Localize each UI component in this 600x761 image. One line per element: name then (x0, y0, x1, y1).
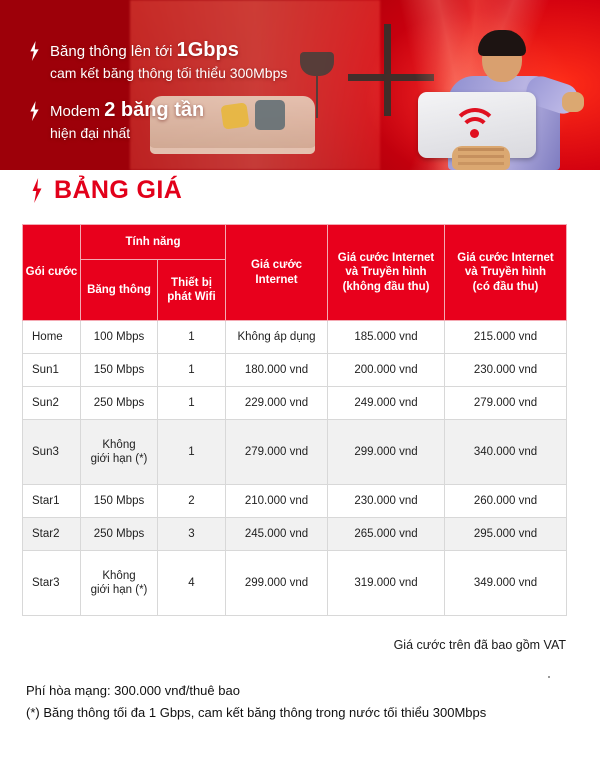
image-speck (548, 676, 550, 678)
cell-internet-price: 279.000 vnd (226, 420, 328, 485)
cell-bandwidth-line1: Không (102, 439, 135, 451)
banner-bullet-1-line2: cam kết băng thông tối thiểu 300Mbps (50, 65, 287, 81)
table-row[interactable]: Star2250 Mbps3245.000 vnd265.000 vnd295.… (23, 518, 567, 551)
table-row[interactable]: Sun1150 Mbps1180.000 vnd200.000 vnd230.0… (23, 354, 567, 387)
cell-tv-with-receiver: 340.000 vnd (445, 420, 567, 485)
cell-wifi-device: 1 (158, 387, 226, 420)
header-tv-no-receiver-line2: và Truyền hình (345, 266, 426, 278)
cell-bandwidth-line1: 250 Mbps (94, 397, 145, 409)
price-table-body: Home100 Mbps1Không áp dụng185.000 vnd215… (23, 321, 567, 616)
header-tv-with-receiver-line3: (có đầu thu) (473, 281, 539, 293)
cell-bandwidth: 250 Mbps (81, 387, 158, 420)
person-pointing-hand (562, 92, 584, 112)
cell-bandwidth-line1: Không (102, 570, 135, 582)
table-row[interactable]: Star3Khônggiới hạn (*)4299.000 vnd319.00… (23, 551, 567, 616)
cell-package: Star2 (23, 518, 81, 551)
person-fingers (452, 146, 510, 170)
cell-wifi-device: 2 (158, 485, 226, 518)
cell-package: Star3 (23, 551, 81, 616)
banner-bullet-2-line2: hiện đại nhất (50, 125, 130, 141)
footer-notes: Phí hòa mạng: 300.000 vnđ/thuê bao (*) B… (26, 680, 486, 725)
price-table-header: Gói cước Tính năng Giá cước Internet Giá… (23, 225, 567, 321)
cell-tv-no-receiver: 230.000 vnd (328, 485, 445, 518)
person-hair (478, 30, 526, 56)
header-tv-no-receiver-line1: Giá cước Internet (338, 252, 434, 264)
cell-package: Star1 (23, 485, 81, 518)
cell-bandwidth: 250 Mbps (81, 518, 158, 551)
cell-wifi-device: 1 (158, 354, 226, 387)
header-tv-with-receiver: Giá cước Internet và Truyền hình (có đầu… (445, 225, 567, 321)
cell-internet-price: 180.000 vnd (226, 354, 328, 387)
banner-bullet-1-line1: Băng thông lên tới 1Gbps (50, 43, 239, 60)
header-tv-no-receiver-line3: (không đầu thu) (343, 281, 430, 293)
banner-bullet-2-prefix: Modem (50, 103, 104, 120)
banner-bullet-2-highlight: 2 băng tần (104, 99, 204, 121)
table-row[interactable]: Sun3Khônggiới hạn (*)1279.000 vnd299.000… (23, 420, 567, 485)
cell-bandwidth-line2: giới hạn (*) (91, 453, 148, 465)
cell-internet-price: 299.000 vnd (226, 551, 328, 616)
cell-package: Sun1 (23, 354, 81, 387)
header-tv-no-receiver: Giá cước Internet và Truyền hình (không … (328, 225, 445, 321)
person-photo (430, 18, 580, 170)
cell-package: Home (23, 321, 81, 354)
wifi-icon (452, 104, 498, 138)
header-tv-with-receiver-line1: Giá cước Internet (457, 252, 553, 264)
cell-package: Sun3 (23, 420, 81, 485)
table-row[interactable]: Star1150 Mbps2210.000 vnd230.000 vnd260.… (23, 485, 567, 518)
lightning-bolt-icon (30, 178, 44, 203)
cell-tv-with-receiver: 295.000 vnd (445, 518, 567, 551)
cell-tv-with-receiver: 230.000 vnd (445, 354, 567, 387)
cell-tv-no-receiver: 265.000 vnd (328, 518, 445, 551)
cell-tv-with-receiver: 279.000 vnd (445, 387, 567, 420)
cell-wifi-device: 1 (158, 321, 226, 354)
banner-bullet-list: Băng thông lên tới 1Gbps cam kết băng th… (28, 38, 328, 158)
cell-bandwidth-line1: 150 Mbps (94, 495, 145, 507)
cell-wifi-device: 3 (158, 518, 226, 551)
cell-tv-no-receiver: 200.000 vnd (328, 354, 445, 387)
banner-bullet-1-highlight: 1Gbps (177, 39, 239, 61)
cell-tv-no-receiver: 249.000 vnd (328, 387, 445, 420)
cell-internet-price: 210.000 vnd (226, 485, 328, 518)
footer-note-install-fee: Phí hòa mạng: 300.000 vnđ/thuê bao (26, 680, 486, 702)
cell-tv-with-receiver: 349.000 vnd (445, 551, 567, 616)
header-wifi-device-line2: phát Wifi (167, 291, 215, 303)
banner-bullet-1-prefix: Băng thông lên tới (50, 43, 177, 60)
banner-bullet-2: Modem 2 băng tần hiện đại nhất (28, 98, 328, 144)
table-row[interactable]: Home100 Mbps1Không áp dụng185.000 vnd215… (23, 321, 567, 354)
cell-tv-no-receiver: 299.000 vnd (328, 420, 445, 485)
header-internet-price-line2: Internet (255, 274, 297, 286)
header-internet-price: Giá cước Internet (226, 225, 328, 321)
header-features-group: Tính năng (81, 225, 226, 260)
cell-tv-no-receiver: 319.000 vnd (328, 551, 445, 616)
footer-note-asterisk: (*) Băng thông tối đa 1 Gbps, cam kết bă… (26, 702, 486, 724)
page-title-text: BẢNG GIÁ (54, 176, 182, 205)
price-table-container: Gói cước Tính năng Giá cước Internet Giá… (22, 224, 566, 616)
cell-bandwidth: Khônggiới hạn (*) (81, 551, 158, 616)
cell-bandwidth: 100 Mbps (81, 321, 158, 354)
cell-bandwidth: 150 Mbps (81, 485, 158, 518)
price-table: Gói cước Tính năng Giá cước Internet Giá… (22, 224, 567, 616)
header-tv-with-receiver-line2: và Truyền hình (465, 266, 546, 278)
cell-internet-price: 229.000 vnd (226, 387, 328, 420)
header-bandwidth: Băng thông (81, 260, 158, 321)
cell-tv-with-receiver: 215.000 vnd (445, 321, 567, 354)
cell-tv-no-receiver: 185.000 vnd (328, 321, 445, 354)
banner-bullet-2-line1: Modem 2 băng tần (50, 103, 204, 120)
banner-bullet-1: Băng thông lên tới 1Gbps cam kết băng th… (28, 38, 328, 84)
cell-tv-with-receiver: 260.000 vnd (445, 485, 567, 518)
lightning-bolt-icon (28, 41, 41, 61)
page-title: BẢNG GIÁ (30, 176, 182, 205)
header-package: Gói cước (23, 225, 81, 321)
cell-wifi-device: 4 (158, 551, 226, 616)
cell-bandwidth: Khônggiới hạn (*) (81, 420, 158, 485)
vat-note: Giá cước trên đã bao gồm VAT (394, 638, 566, 652)
table-row[interactable]: Sun2250 Mbps1229.000 vnd249.000 vnd279.0… (23, 387, 567, 420)
cell-bandwidth-line1: 100 Mbps (94, 331, 145, 343)
cell-wifi-device: 1 (158, 420, 226, 485)
header-wifi-device-line1: Thiết bị (171, 277, 212, 289)
cell-internet-price: 245.000 vnd (226, 518, 328, 551)
cell-internet-price: Không áp dụng (226, 321, 328, 354)
cell-package: Sun2 (23, 387, 81, 420)
wifi-icon-dot (470, 129, 479, 138)
promo-banner: Băng thông lên tới 1Gbps cam kết băng th… (0, 0, 600, 170)
cell-bandwidth-line1: 150 Mbps (94, 364, 145, 376)
header-wifi-device: Thiết bị phát Wifi (158, 260, 226, 321)
cell-bandwidth-line1: 250 Mbps (94, 528, 145, 540)
header-internet-price-line1: Giá cước (251, 259, 302, 271)
cell-bandwidth: 150 Mbps (81, 354, 158, 387)
header-row-1: Gói cước Tính năng Giá cước Internet Giá… (23, 225, 567, 260)
cell-bandwidth-line2: giới hạn (*) (91, 584, 148, 596)
lightning-bolt-icon (28, 101, 41, 121)
